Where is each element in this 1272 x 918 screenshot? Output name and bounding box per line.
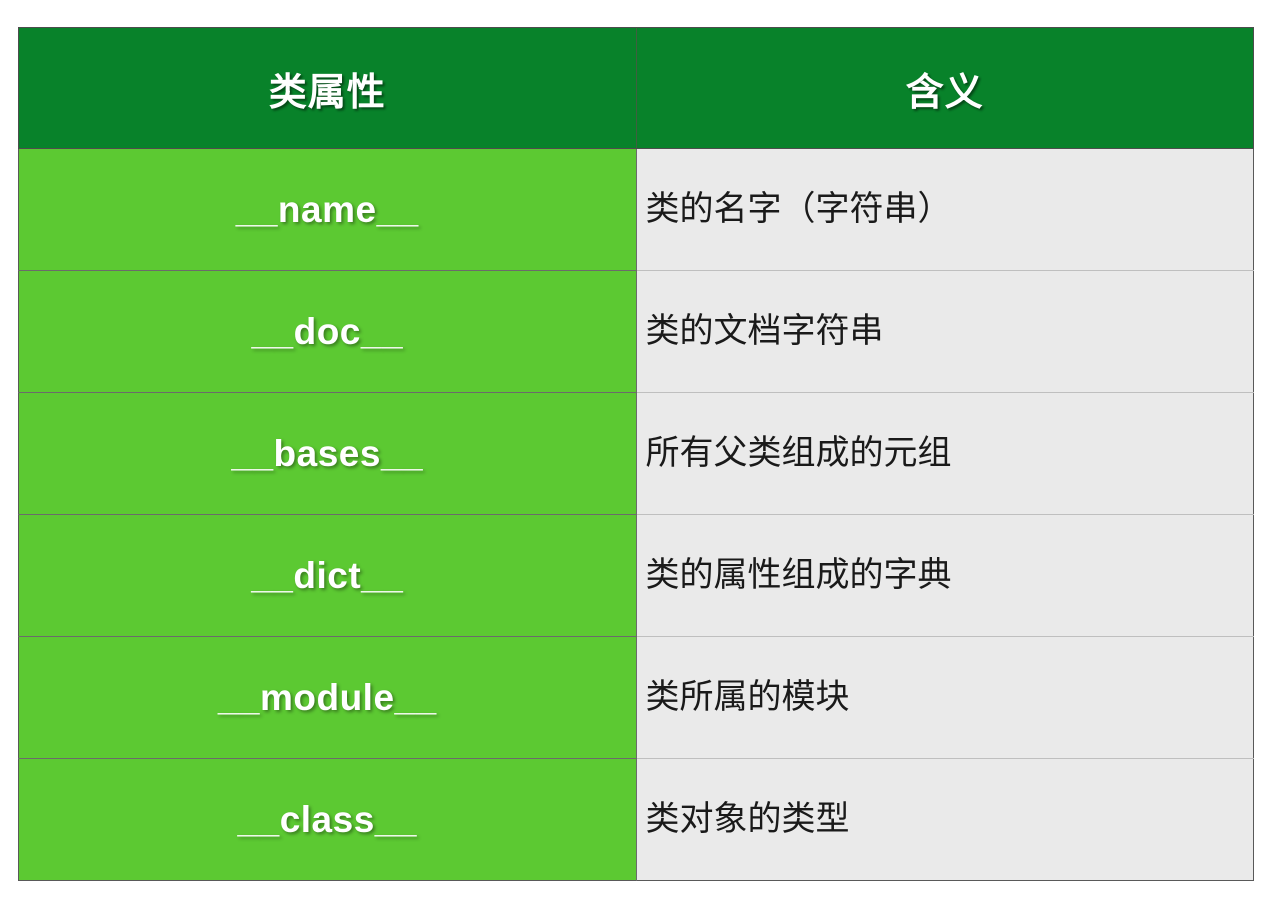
table-row: __module__ 类所属的模块	[19, 637, 1254, 759]
table-row: __doc__ 类的文档字符串	[19, 271, 1254, 393]
cell-attribute-name: __name__	[19, 149, 637, 271]
table-body: __name__ 类的名字（字符串） __doc__ 类的文档字符串 __bas…	[19, 149, 1254, 881]
table-row: __dict__ 类的属性组成的字典	[19, 515, 1254, 637]
cell-attribute-class: __class__	[19, 759, 637, 881]
column-header-attribute: 类属性	[19, 28, 637, 149]
cell-attribute-dict: __dict__	[19, 515, 637, 637]
table-row: __bases__ 所有父类组成的元组	[19, 393, 1254, 515]
column-header-meaning: 含义	[636, 28, 1254, 149]
cell-meaning-name: 类的名字（字符串）	[636, 149, 1254, 271]
cell-meaning-bases: 所有父类组成的元组	[636, 393, 1254, 515]
class-attributes-table: 类属性 含义 __name__ 类的名字（字符串） __doc__ 类的文档字符…	[18, 27, 1254, 881]
class-attributes-table-container: 类属性 含义 __name__ 类的名字（字符串） __doc__ 类的文档字符…	[18, 27, 1254, 880]
table-row: __name__ 类的名字（字符串）	[19, 149, 1254, 271]
cell-attribute-module: __module__	[19, 637, 637, 759]
cell-meaning-class: 类对象的类型	[636, 759, 1254, 881]
cell-meaning-dict: 类的属性组成的字典	[636, 515, 1254, 637]
table-header-row: 类属性 含义	[19, 28, 1254, 149]
cell-attribute-doc: __doc__	[19, 271, 637, 393]
table-row: __class__ 类对象的类型	[19, 759, 1254, 881]
cell-meaning-module: 类所属的模块	[636, 637, 1254, 759]
cell-attribute-bases: __bases__	[19, 393, 637, 515]
cell-meaning-doc: 类的文档字符串	[636, 271, 1254, 393]
table-header: 类属性 含义	[19, 28, 1254, 149]
